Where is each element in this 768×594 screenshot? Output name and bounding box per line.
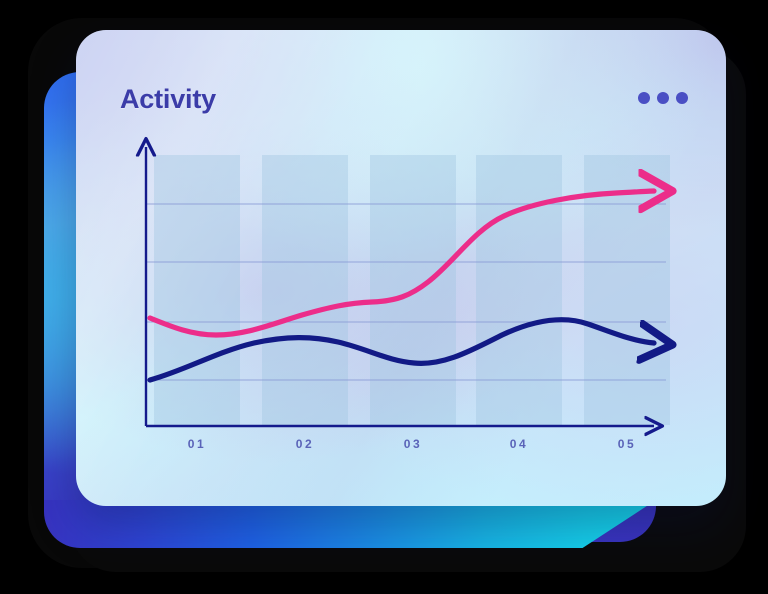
column-band-1 bbox=[154, 155, 240, 425]
column-band-2 bbox=[262, 155, 348, 425]
x-tick-label-5: 05 bbox=[618, 437, 637, 451]
chart-svg: 01 02 03 04 05 bbox=[76, 30, 726, 506]
background-gradient-strip bbox=[44, 500, 656, 548]
x-tick-label-3: 03 bbox=[404, 437, 423, 451]
x-tick-label-4: 04 bbox=[510, 437, 529, 451]
x-tick-label-2: 02 bbox=[296, 437, 315, 451]
x-axis-tick-labels: 01 02 03 04 05 bbox=[188, 437, 637, 451]
screenshot-stage: Activity bbox=[0, 0, 768, 594]
activity-chart: 01 02 03 04 05 bbox=[76, 30, 726, 506]
x-tick-label-1: 01 bbox=[188, 437, 207, 451]
activity-card: Activity bbox=[76, 30, 726, 506]
column-band-4 bbox=[476, 155, 562, 425]
